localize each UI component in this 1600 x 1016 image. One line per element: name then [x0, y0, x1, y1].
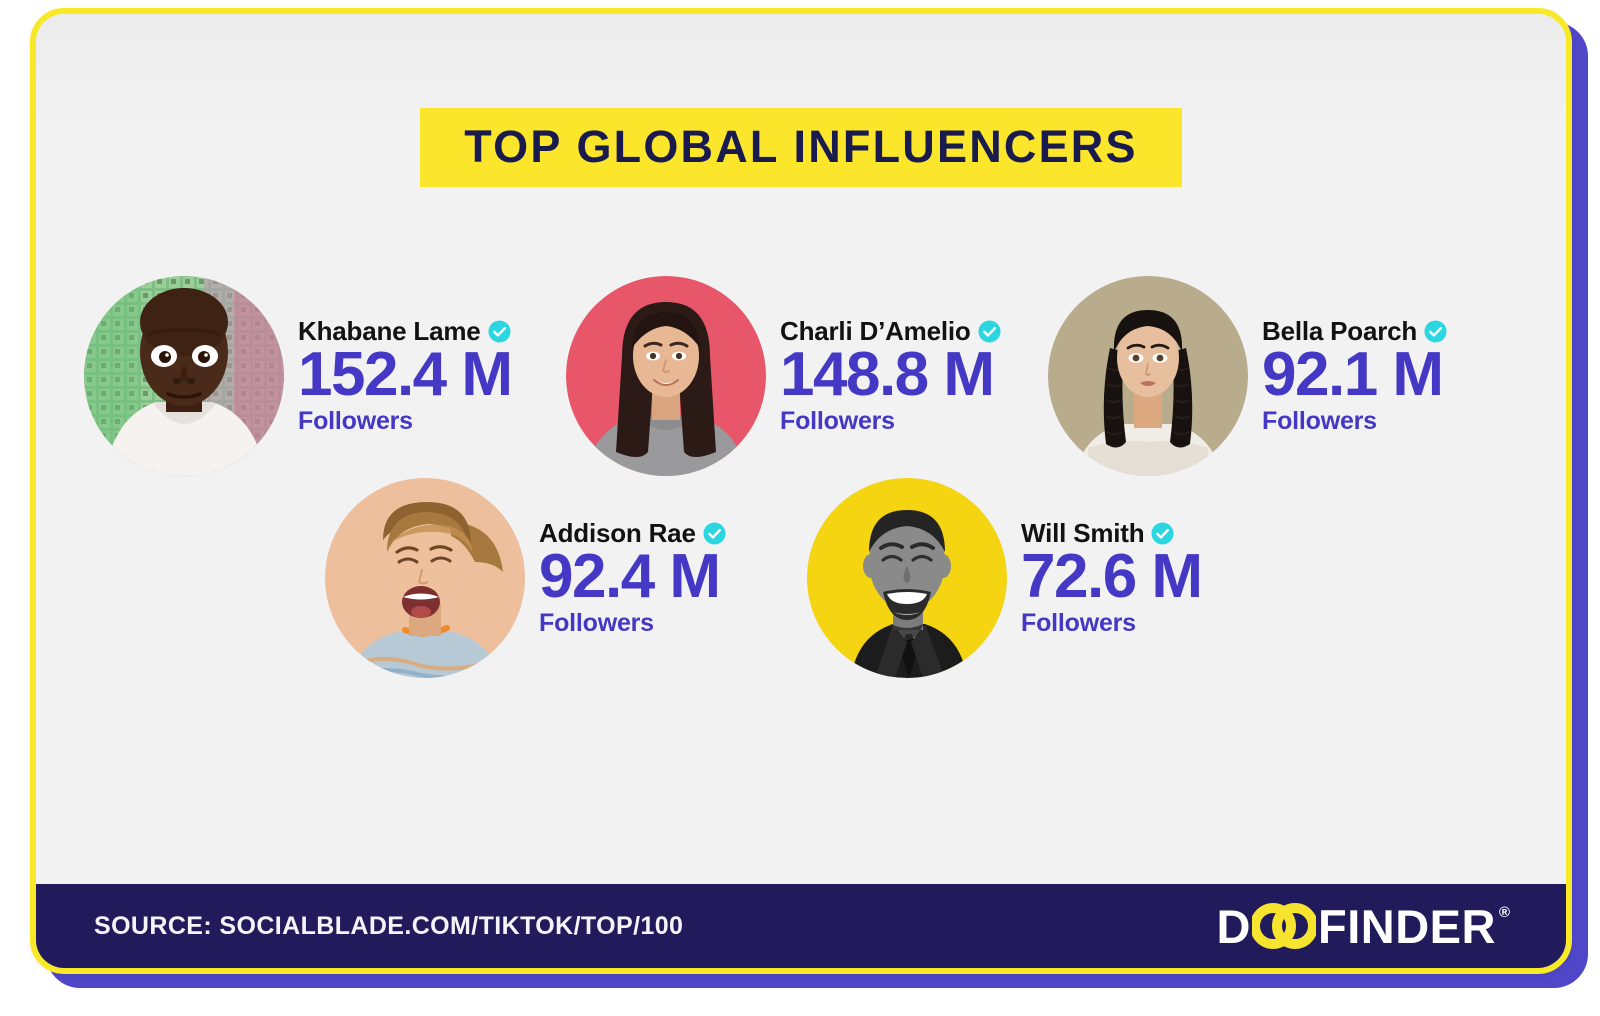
logo-suffix: FINDER: [1318, 903, 1496, 950]
doofinder-logo[interactable]: D FINDER ®: [1217, 903, 1510, 950]
influencer-text-will-smith: Will Smith 72.6 M Followers: [1021, 520, 1202, 636]
source-text: SOURCE: SOCIALBLADE.COM/TIKTOK/TOP/100: [94, 912, 683, 941]
influencer-follower-count: 92.4 M: [539, 545, 726, 608]
influencer-text-bella-poarch: Bella Poarch 92.1 M Followers: [1262, 318, 1447, 434]
title-band: TOP GLOBAL INFLUENCERS: [420, 108, 1181, 187]
avatar-bella-poarch: [1048, 276, 1248, 476]
influencer-row-1: Khabane Lame 152.4 M Followers: [36, 276, 1566, 476]
avatar-addison-rae: [325, 478, 525, 678]
influencer-card-khabane-lame[interactable]: Khabane Lame 152.4 M Followers: [84, 276, 554, 476]
avatar-charli-damelio: [566, 276, 766, 476]
influencer-followers-label: Followers: [1021, 610, 1202, 636]
influencer-followers-label: Followers: [780, 408, 1001, 434]
influencer-follower-count: 148.8 M: [780, 343, 1001, 406]
influencer-card-charli-damelio[interactable]: Charli D’Amelio 148.8 M Followers: [566, 276, 1036, 476]
influencer-card-will-smith[interactable]: Will Smith 72.6 M Followers: [807, 478, 1277, 678]
influencer-follower-count: 92.1 M: [1262, 343, 1447, 406]
influencer-row-2: Addison Rae 92.4 M Followers: [36, 478, 1566, 678]
logo-prefix: D: [1217, 903, 1251, 950]
infographic-stage: TOP GLOBAL INFLUENCERS: [0, 0, 1600, 1016]
influencer-text-charli-damelio: Charli D’Amelio 148.8 M Followers: [780, 318, 1001, 434]
title-area: TOP GLOBAL INFLUENCERS: [36, 108, 1566, 187]
avatar-will-smith: [807, 478, 1007, 678]
footer-bar: SOURCE: SOCIALBLADE.COM/TIKTOK/TOP/100 D…: [36, 884, 1566, 968]
logo-wordmark: D FINDER: [1217, 903, 1496, 950]
page-title: TOP GLOBAL INFLUENCERS: [464, 124, 1137, 169]
influencer-text-khabane-lame: Khabane Lame 152.4 M Followers: [298, 318, 512, 434]
infographic-card: TOP GLOBAL INFLUENCERS: [30, 8, 1572, 974]
influencer-card-addison-rae[interactable]: Addison Rae 92.4 M Followers: [325, 478, 795, 678]
influencer-followers-label: Followers: [1262, 408, 1447, 434]
avatar-khabane-lame: [84, 276, 284, 476]
registered-trademark-icon: ®: [1499, 905, 1510, 920]
influencer-follower-count: 72.6 M: [1021, 545, 1202, 608]
logo-double-o-icon: [1252, 903, 1316, 949]
influencer-grid: Khabane Lame 152.4 M Followers: [36, 276, 1566, 678]
influencer-text-addison-rae: Addison Rae 92.4 M Followers: [539, 520, 726, 636]
influencer-followers-label: Followers: [298, 408, 512, 434]
influencer-followers-label: Followers: [539, 610, 726, 636]
influencer-follower-count: 152.4 M: [298, 343, 512, 406]
influencer-card-bella-poarch[interactable]: Bella Poarch 92.1 M Followers: [1048, 276, 1518, 476]
